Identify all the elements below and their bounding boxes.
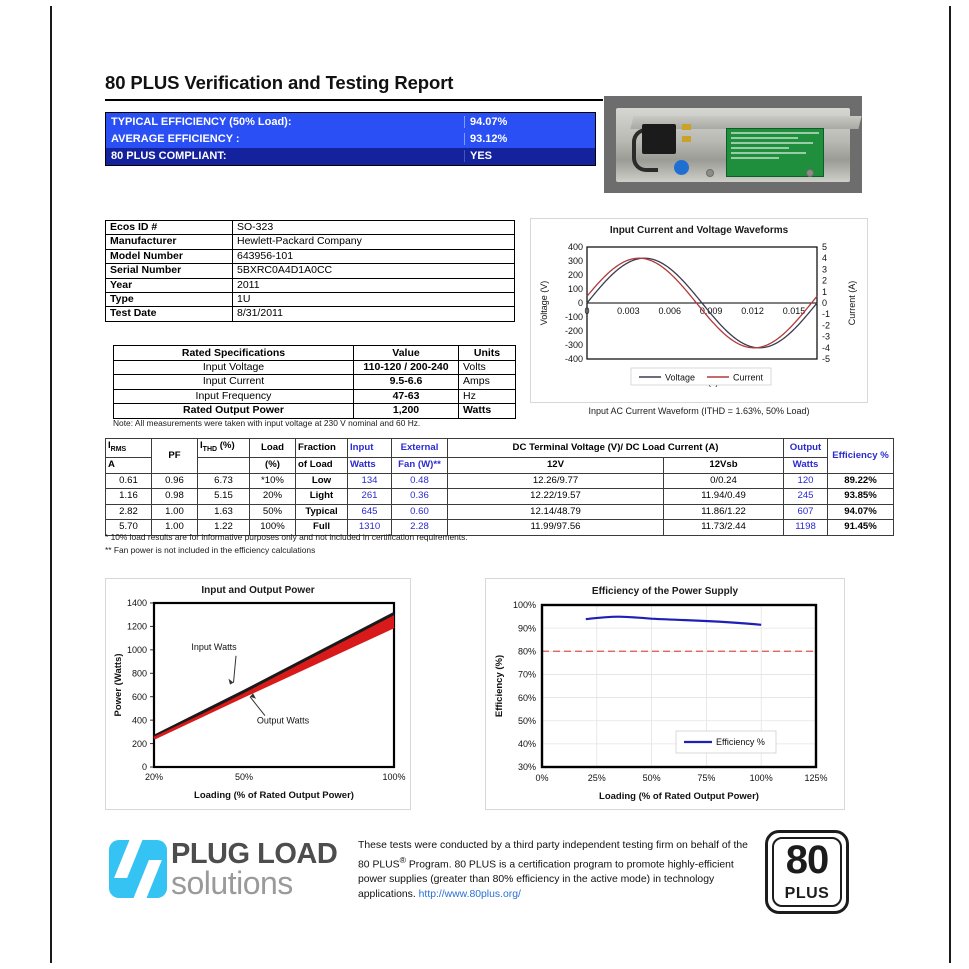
svg-text:1000: 1000 bbox=[127, 645, 147, 655]
spec-header-units: Units bbox=[459, 346, 516, 361]
meas-header-load: Load bbox=[250, 439, 296, 458]
svg-text:-100: -100 bbox=[565, 312, 583, 322]
psu-screw-left bbox=[706, 169, 714, 177]
svg-text:5: 5 bbox=[822, 242, 827, 252]
svg-text:Loading (% of Rated Output Pow: Loading (% of Rated Output Power) bbox=[194, 790, 354, 801]
waveform-chart-title: Input Current and Voltage Waveforms bbox=[531, 225, 867, 236]
meas-header-input-watts: Input bbox=[348, 439, 392, 458]
spec-name-input-current: Input Current bbox=[114, 375, 354, 389]
svg-text:-300: -300 bbox=[565, 340, 583, 350]
psu-connector-lower bbox=[682, 136, 691, 142]
svg-text:1400: 1400 bbox=[127, 598, 147, 608]
svg-text:Output Watts: Output Watts bbox=[257, 716, 310, 726]
psu-connector-upper bbox=[682, 124, 691, 130]
table-row: 2.82 1.00 1.63 50% Typical 645 0.60 12.1… bbox=[106, 504, 894, 520]
svg-text:Efficiency (%): Efficiency (%) bbox=[494, 655, 505, 717]
table-row: Model Number 643956-101 bbox=[106, 249, 515, 263]
meas-12v: 12.22/19.57 bbox=[448, 489, 664, 505]
80plus-badge: 80 PLUS bbox=[765, 830, 849, 914]
meas-efficiency: 93.85% bbox=[828, 489, 894, 505]
meas-header-external-fan: External bbox=[392, 439, 448, 458]
table-row: Input Frequency 47-63 Hz bbox=[114, 389, 516, 403]
svg-text:-4: -4 bbox=[822, 343, 830, 353]
summary-value-typical-efficiency: 94.07% bbox=[464, 116, 595, 128]
measurement-note-1: * 10% load results are for informative p… bbox=[105, 532, 468, 542]
spec-unit-input-current: Amps bbox=[459, 375, 516, 389]
svg-text:0: 0 bbox=[822, 298, 827, 308]
svg-text:80%: 80% bbox=[518, 646, 536, 656]
summary-row-average-efficiency: AVERAGE EFFICIENCY : 93.12% bbox=[106, 130, 595, 147]
footer-text-part2: Program. 80 PLUS is a certification prog… bbox=[358, 859, 734, 900]
meas-fraction: Low bbox=[296, 473, 348, 489]
logo-text-solutions: solutions bbox=[171, 865, 293, 902]
meas-ithd: 6.73 bbox=[198, 473, 250, 489]
table-row: Test Date 8/31/2011 bbox=[106, 307, 515, 321]
svg-text:50%: 50% bbox=[643, 773, 661, 783]
plug-load-solutions-logo: PLUG LOAD solutions bbox=[105, 832, 355, 904]
80plus-website-link[interactable]: http://www.80plus.org/ bbox=[419, 889, 521, 900]
meas-header-fraction: Fraction bbox=[296, 439, 348, 458]
table-row: Input Current 9.5-6.6 Amps bbox=[114, 375, 516, 389]
summary-box: TYPICAL EFFICIENCY (50% Load): 94.07% AV… bbox=[105, 112, 596, 166]
meas-header-ithd-unit: (%) bbox=[217, 440, 235, 451]
summary-value-compliant: YES bbox=[464, 150, 595, 162]
svg-text:20%: 20% bbox=[145, 772, 163, 782]
info-value-year: 2011 bbox=[233, 278, 515, 292]
table-row: Input Voltage 110-120 / 200-240 Volts bbox=[114, 361, 516, 375]
spec-header-value: Value bbox=[354, 346, 459, 361]
table-row: Manufacturer Hewlett-Packard Company bbox=[106, 235, 515, 249]
spec-name-input-voltage: Input Voltage bbox=[114, 361, 354, 375]
info-key-manufacturer: Manufacturer bbox=[106, 235, 233, 249]
spec-unit-input-frequency: Hz bbox=[459, 389, 516, 403]
info-key-ecos-id: Ecos ID # bbox=[106, 221, 233, 235]
svg-text:300: 300 bbox=[568, 256, 583, 266]
svg-text:200: 200 bbox=[132, 739, 147, 749]
summary-row-compliant: 80 PLUS COMPLIANT: YES bbox=[106, 148, 595, 165]
svg-text:0: 0 bbox=[142, 762, 147, 772]
meas-header-external-fan-2: Fan (W)** bbox=[392, 458, 448, 474]
product-photo bbox=[603, 95, 863, 194]
meas-ithd: 1.63 bbox=[198, 504, 250, 520]
meas-pf: 0.98 bbox=[152, 489, 198, 505]
waveform-caption: Input AC Current Waveform (ITHD = 1.63%,… bbox=[530, 406, 868, 416]
meas-fan: 0.48 bbox=[392, 473, 448, 489]
svg-text:800: 800 bbox=[132, 668, 147, 678]
measurement-table: IRMS PF ITHD (%) Load Fraction Input Ext… bbox=[105, 438, 894, 536]
svg-text:-1: -1 bbox=[822, 309, 830, 319]
info-key-model-number: Model Number bbox=[106, 249, 233, 263]
svg-text:Current (A): Current (A) bbox=[847, 281, 857, 326]
meas-fraction: Light bbox=[296, 489, 348, 505]
svg-text:-400: -400 bbox=[565, 354, 583, 364]
svg-text:0%: 0% bbox=[535, 773, 548, 783]
meas-header-ithd-blank bbox=[198, 458, 250, 474]
svg-text:100%: 100% bbox=[382, 772, 405, 782]
meas-12v: 12.26/9.77 bbox=[448, 473, 664, 489]
svg-text:Efficiency %: Efficiency % bbox=[716, 737, 765, 747]
meas-pf: 0.96 bbox=[152, 473, 198, 489]
report-content: 80 PLUS Verification and Testing Report … bbox=[105, 0, 865, 969]
waveform-chart: Input Current and Voltage Waveforms 4003… bbox=[530, 218, 868, 403]
psu-blue-sticker bbox=[674, 160, 689, 175]
svg-text:600: 600 bbox=[132, 692, 147, 702]
table-row: Ecos ID # SO-323 bbox=[106, 221, 515, 235]
table-header-row: Rated Specifications Value Units bbox=[114, 346, 516, 361]
svg-text:Current: Current bbox=[733, 373, 764, 383]
table-row: Year 2011 bbox=[106, 278, 515, 292]
spec-value-input-current: 9.5-6.6 bbox=[354, 375, 459, 389]
rated-specifications-table: Rated Specifications Value Units Input V… bbox=[113, 345, 516, 419]
svg-text:90%: 90% bbox=[518, 623, 536, 633]
meas-header-output-2: Watts bbox=[784, 458, 828, 474]
summary-label-compliant: 80 PLUS COMPLIANT: bbox=[106, 150, 464, 162]
info-value-serial-number: 5BXRC0A4D1A0CC bbox=[233, 264, 515, 278]
info-value-ecos-id: SO-323 bbox=[233, 221, 515, 235]
meas-efficiency: 91.45% bbox=[828, 520, 894, 536]
svg-text:75%: 75% bbox=[697, 773, 715, 783]
svg-text:1: 1 bbox=[822, 287, 827, 297]
waveform-chart-svg: 4003002001000-100-200-300-400543210-1-2-… bbox=[531, 219, 869, 404]
psu-screw-right bbox=[806, 169, 814, 177]
meas-efficiency: 89.22% bbox=[828, 473, 894, 489]
meas-output-watts: 1198 bbox=[784, 520, 828, 536]
svg-text:0.003: 0.003 bbox=[617, 306, 640, 316]
summary-label-typical-efficiency: TYPICAL EFFICIENCY (50% Load): bbox=[106, 116, 464, 128]
meas-header-dc-group: DC Terminal Voltage (V)/ DC Load Current… bbox=[448, 439, 784, 458]
meas-header-input-watts-2: Watts bbox=[348, 458, 392, 474]
meas-12vsb: 11.73/2.44 bbox=[664, 520, 784, 536]
svg-text:400: 400 bbox=[568, 242, 583, 252]
svg-text:4: 4 bbox=[822, 253, 827, 263]
svg-text:0: 0 bbox=[578, 298, 583, 308]
meas-12v: 12.14/48.79 bbox=[448, 504, 664, 520]
80plus-badge-number: 80 bbox=[768, 840, 846, 880]
plug-load-mark-icon bbox=[109, 840, 167, 898]
svg-text:-200: -200 bbox=[565, 326, 583, 336]
meas-header-irms-subscript: RMS bbox=[111, 446, 127, 453]
meas-input-watts: 134 bbox=[348, 473, 392, 489]
spec-value-input-frequency: 47-63 bbox=[354, 389, 459, 403]
svg-text:100%: 100% bbox=[750, 773, 773, 783]
info-key-year: Year bbox=[106, 278, 233, 292]
spec-unit-input-voltage: Volts bbox=[459, 361, 516, 375]
meas-header-fraction-2: of Load bbox=[296, 458, 348, 474]
meas-header-irms-unit: A bbox=[106, 458, 152, 474]
svg-text:3: 3 bbox=[822, 264, 827, 274]
meas-ithd: 5.15 bbox=[198, 489, 250, 505]
meas-12vsb: 11.94/0.49 bbox=[664, 489, 784, 505]
meas-fan: 0.60 bbox=[392, 504, 448, 520]
meas-load: *10% bbox=[250, 473, 296, 489]
svg-text:30%: 30% bbox=[518, 762, 536, 772]
measurement-note-2: ** Fan power is not included in the effi… bbox=[105, 545, 315, 555]
svg-text:70%: 70% bbox=[518, 670, 536, 680]
power-chart-svg: 140012001000800600400200020%50%100%Input… bbox=[106, 579, 412, 811]
meas-12vsb: 11.86/1.22 bbox=[664, 504, 784, 520]
psu-handle bbox=[642, 124, 676, 154]
table-header-row-2: A (%) of Load Watts Fan (W)** 12V 12Vsb … bbox=[106, 458, 894, 474]
power-chart: Input and Output Power 14001200100080060… bbox=[105, 578, 411, 810]
table-row: Serial Number 5BXRC0A4D1A0CC bbox=[106, 264, 515, 278]
meas-output-watts: 607 bbox=[784, 504, 828, 520]
title-divider bbox=[105, 99, 605, 101]
svg-text:100: 100 bbox=[568, 284, 583, 294]
svg-text:Voltage: Voltage bbox=[665, 373, 695, 383]
svg-text:200: 200 bbox=[568, 270, 583, 280]
meas-fraction: Typical bbox=[296, 504, 348, 520]
table-row: 1.16 0.98 5.15 20% Light 261 0.36 12.22/… bbox=[106, 489, 894, 505]
80plus-badge-plus: PLUS bbox=[768, 885, 846, 903]
svg-text:Power (Watts): Power (Watts) bbox=[113, 654, 124, 717]
meas-irms: 0.61 bbox=[106, 473, 152, 489]
svg-text:0.012: 0.012 bbox=[741, 306, 764, 316]
power-chart-title: Input and Output Power bbox=[106, 585, 410, 596]
svg-text:400: 400 bbox=[132, 715, 147, 725]
device-info-table: Ecos ID # SO-323 Manufacturer Hewlett-Pa… bbox=[105, 220, 515, 322]
table-row: 0.61 0.96 6.73 *10% Low 134 0.48 12.26/9… bbox=[106, 473, 894, 489]
svg-text:0: 0 bbox=[584, 306, 589, 316]
svg-text:0.006: 0.006 bbox=[659, 306, 682, 316]
spec-name-rated-output-power: Rated Output Power bbox=[114, 404, 354, 418]
meas-header-output: Output bbox=[784, 439, 828, 458]
meas-output-watts: 245 bbox=[784, 489, 828, 505]
meas-header-load-unit: (%) bbox=[250, 458, 296, 474]
svg-text:1200: 1200 bbox=[127, 622, 147, 632]
svg-text:Voltage (V): Voltage (V) bbox=[539, 281, 549, 326]
svg-text:2: 2 bbox=[822, 276, 827, 286]
svg-text:Input Watts: Input Watts bbox=[191, 642, 237, 652]
svg-text:100%: 100% bbox=[513, 600, 536, 610]
svg-text:25%: 25% bbox=[588, 773, 606, 783]
meas-pf: 1.00 bbox=[152, 504, 198, 520]
svg-text:40%: 40% bbox=[518, 739, 536, 749]
table-header-row: IRMS PF ITHD (%) Load Fraction Input Ext… bbox=[106, 439, 894, 458]
meas-header-12v: 12V bbox=[448, 458, 664, 474]
meas-header-ithd: ITHD (%) bbox=[198, 439, 250, 458]
summary-value-average-efficiency: 93.12% bbox=[464, 133, 595, 145]
page-title: 80 PLUS Verification and Testing Report bbox=[105, 72, 453, 94]
meas-header-efficiency: Efficiency % bbox=[828, 439, 894, 474]
info-value-manufacturer: Hewlett-Packard Company bbox=[233, 235, 515, 249]
svg-text:50%: 50% bbox=[518, 716, 536, 726]
psu-chassis bbox=[616, 108, 850, 182]
meas-load: 20% bbox=[250, 489, 296, 505]
svg-text:60%: 60% bbox=[518, 693, 536, 703]
meas-header-ithd-subscript: THD bbox=[203, 446, 217, 453]
table-row: Type 1U bbox=[106, 293, 515, 307]
meas-header-pf: PF bbox=[152, 439, 198, 474]
meas-fan: 0.36 bbox=[392, 489, 448, 505]
efficiency-chart: Efficiency of the Power Supply 100%90%80… bbox=[485, 578, 845, 810]
meas-output-watts: 120 bbox=[784, 473, 828, 489]
meas-header-12vsb: 12Vsb bbox=[664, 458, 784, 474]
meas-efficiency: 94.07% bbox=[828, 504, 894, 520]
meas-input-watts: 645 bbox=[348, 504, 392, 520]
svg-text:Loading (% of Rated Output Pow: Loading (% of Rated Output Power) bbox=[599, 791, 759, 802]
meas-load: 50% bbox=[250, 504, 296, 520]
info-value-model-number: 643956-101 bbox=[233, 249, 515, 263]
footer-disclaimer: These tests were conducted by a third pa… bbox=[358, 838, 748, 902]
spec-note: Note: All measurements were taken with i… bbox=[113, 418, 420, 428]
svg-text:-5: -5 bbox=[822, 354, 830, 364]
summary-label-average-efficiency: AVERAGE EFFICIENCY : bbox=[106, 133, 464, 145]
meas-header-irms: IRMS bbox=[106, 439, 152, 458]
info-key-type: Type bbox=[106, 293, 233, 307]
info-value-test-date: 8/31/2011 bbox=[233, 307, 515, 321]
efficiency-chart-title: Efficiency of the Power Supply bbox=[486, 586, 844, 597]
info-key-serial-number: Serial Number bbox=[106, 264, 233, 278]
svg-text:-2: -2 bbox=[822, 320, 830, 330]
spec-unit-rated-output-power: Watts bbox=[459, 404, 516, 418]
meas-12vsb: 0/0.24 bbox=[664, 473, 784, 489]
summary-row-typical-efficiency: TYPICAL EFFICIENCY (50% Load): 94.07% bbox=[106, 113, 595, 130]
meas-irms: 1.16 bbox=[106, 489, 152, 505]
spec-value-input-voltage: 110-120 / 200-240 bbox=[354, 361, 459, 375]
meas-input-watts: 261 bbox=[348, 489, 392, 505]
svg-text:-3: -3 bbox=[822, 332, 830, 342]
svg-text:50%: 50% bbox=[235, 772, 253, 782]
table-row: Rated Output Power 1,200 Watts bbox=[114, 404, 516, 418]
info-key-test-date: Test Date bbox=[106, 307, 233, 321]
spec-name-input-frequency: Input Frequency bbox=[114, 389, 354, 403]
spec-value-rated-output-power: 1,200 bbox=[354, 404, 459, 418]
spec-header-name: Rated Specifications bbox=[114, 346, 354, 361]
meas-irms: 2.82 bbox=[106, 504, 152, 520]
meas-12v: 11.99/97.56 bbox=[448, 520, 664, 536]
svg-text:125%: 125% bbox=[804, 773, 827, 783]
efficiency-chart-svg: 100%90%80%70%60%50%40%30%0%25%50%75%100%… bbox=[486, 579, 846, 811]
info-value-type: 1U bbox=[233, 293, 515, 307]
